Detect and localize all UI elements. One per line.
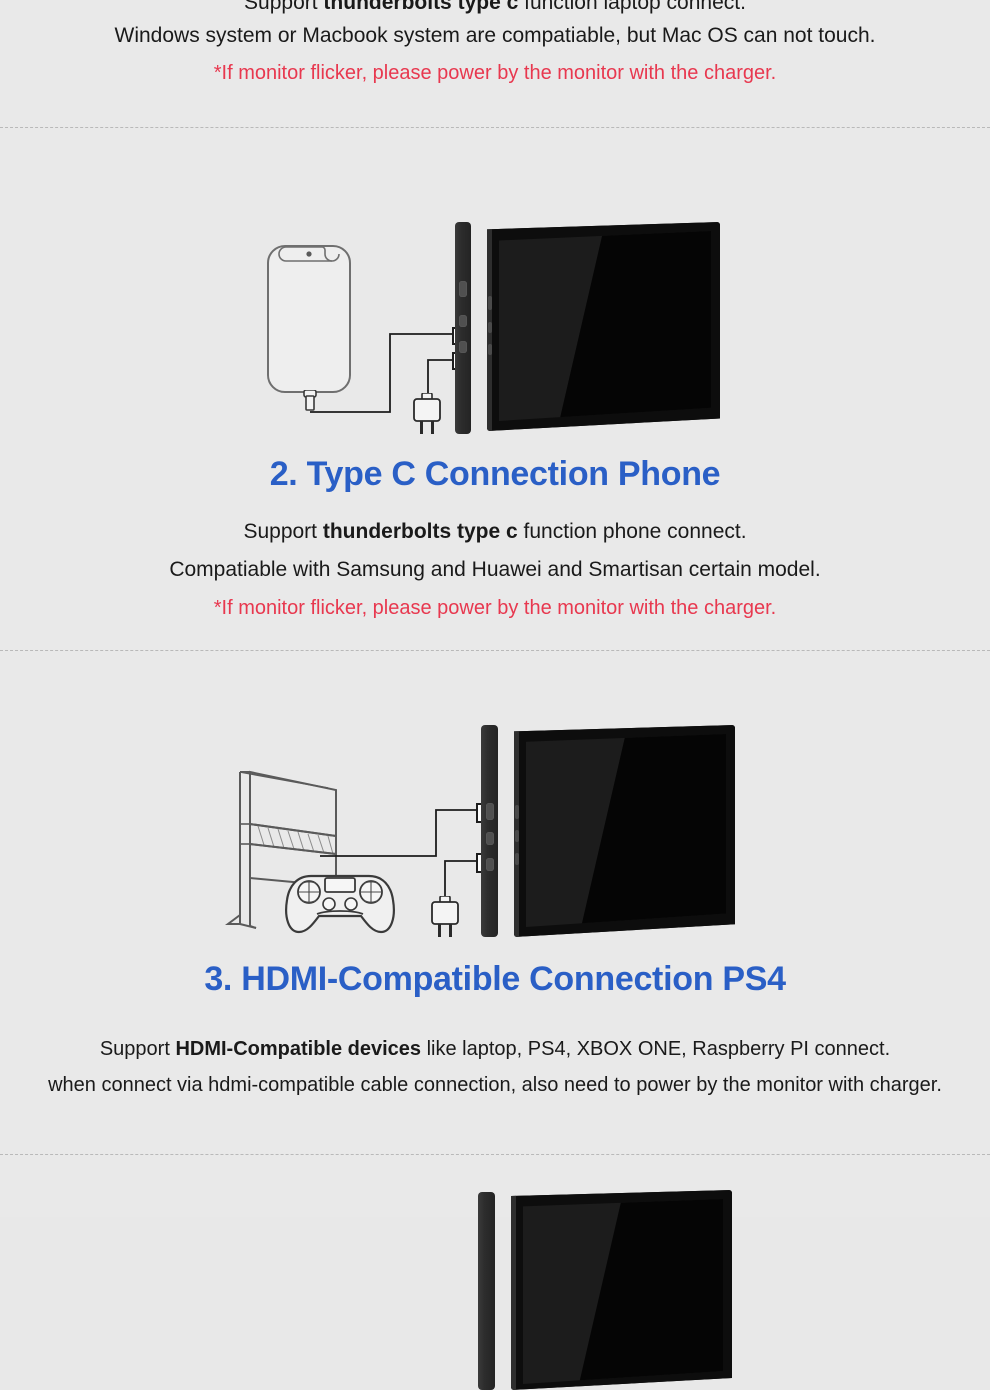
infographic-page: Support thunderbolts type c function lap… bbox=[0, 0, 990, 1217]
monitor-left-edge-4 bbox=[511, 1190, 516, 1390]
section-3-line-1-suffix: like laptop, PS4, XBOX ONE, Raspberry PI… bbox=[421, 1038, 890, 1060]
monitor-screen-glare-3 bbox=[573, 734, 726, 927]
monitor-edge-port-2 bbox=[488, 322, 492, 333]
section-1-line-2: Windows system or Macbook system are com… bbox=[0, 24, 990, 48]
monitor-side-panel-4 bbox=[478, 1192, 495, 1390]
monitor-side-panel bbox=[455, 222, 471, 434]
section-1-line-1-bold: thunderbolts type c bbox=[323, 0, 518, 14]
monitor-port-2-3 bbox=[486, 832, 494, 845]
section-2-line-1-suffix: function phone connect. bbox=[518, 520, 747, 543]
monitor-edge-port-2-3 bbox=[515, 830, 519, 842]
wall-charger-plug-3 bbox=[429, 896, 461, 939]
section-2-line-2: Compatiable with Samsung and Huawei and … bbox=[0, 558, 990, 582]
section-separator-2 bbox=[0, 650, 990, 651]
monitor-edge-port-3 bbox=[488, 344, 492, 355]
monitor-screen bbox=[499, 231, 711, 421]
monitor-screen-4 bbox=[523, 1199, 723, 1384]
portable-monitor-section-3 bbox=[481, 725, 751, 937]
monitor-screen-glare bbox=[551, 231, 711, 421]
section-3-heading: 3. HDMI-Compatible Connection PS4 bbox=[0, 960, 990, 999]
section-3-line-1: Support HDMI-Compatible devices like lap… bbox=[0, 1038, 990, 1061]
section-3-line-1-bold: HDMI-Compatible devices bbox=[175, 1038, 421, 1060]
section-1-line-1-suffix: function laptop connect. bbox=[518, 0, 746, 14]
monitor-display-body-3 bbox=[514, 725, 735, 937]
monitor-edge-port-1-3 bbox=[515, 805, 519, 819]
cable-ps4-to-monitor bbox=[318, 806, 478, 858]
monitor-port-3-3 bbox=[486, 858, 494, 871]
section-separator-1 bbox=[0, 127, 990, 128]
section-1-line-1: Support thunderbolts type c function lap… bbox=[0, 0, 990, 15]
monitor-port-3 bbox=[459, 341, 467, 353]
monitor-edge-port-1 bbox=[488, 296, 492, 310]
section-3-line-2: when connect via hdmi-compatible cable c… bbox=[0, 1074, 990, 1097]
section-2-line-1: Support thunderbolts type c function pho… bbox=[0, 520, 990, 544]
section-separator-3 bbox=[0, 1154, 990, 1155]
monitor-port-1 bbox=[459, 281, 467, 297]
monitor-port-1-3 bbox=[486, 803, 494, 820]
monitor-display-body-4 bbox=[511, 1190, 732, 1390]
monitor-display-body bbox=[487, 222, 720, 431]
section-2-line-1-prefix: Support bbox=[243, 520, 322, 543]
wall-charger-plug bbox=[411, 393, 443, 436]
section-3-line-1-prefix: Support bbox=[100, 1038, 176, 1060]
section-1-line-1-prefix: Support bbox=[244, 0, 323, 14]
portable-monitor-section-4 bbox=[478, 1190, 748, 1390]
monitor-port-2 bbox=[459, 315, 467, 327]
monitor-side-panel-3 bbox=[481, 725, 498, 937]
ps4-controller-illustration bbox=[281, 866, 399, 936]
portable-monitor-section-2 bbox=[455, 222, 720, 434]
section-2-line-1-bold: thunderbolts type c bbox=[323, 520, 518, 543]
monitor-screen-glare-4 bbox=[571, 1199, 723, 1384]
monitor-edge-port-3-3 bbox=[515, 853, 519, 865]
section-2-heading: 2. Type C Connection Phone bbox=[0, 455, 990, 494]
monitor-screen-3 bbox=[526, 734, 726, 927]
section-2-warning: *If monitor flicker, please power by the… bbox=[0, 597, 990, 620]
section-1-warning: *If monitor flicker, please power by the… bbox=[0, 62, 990, 85]
